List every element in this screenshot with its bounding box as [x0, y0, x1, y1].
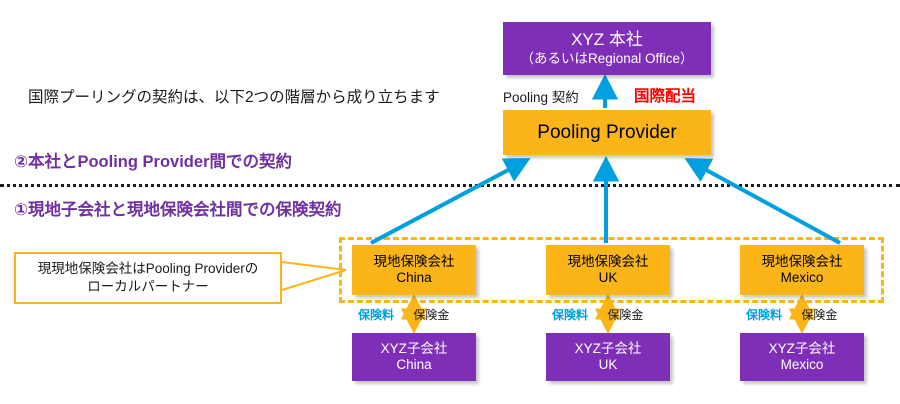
label-premium-uk: 保険料 [552, 308, 588, 322]
box-pooling-provider[interactable]: Pooling Provider [503, 110, 711, 155]
box-xyz-subsidiary-uk[interactable]: XYZ子会社 UK [546, 333, 670, 381]
flow-labels-china: 保険料 保険金 [358, 306, 449, 323]
label-benefit-mexico: 保険金 [801, 308, 837, 322]
local-insurer-uk-line1: 現地保険会社 [568, 254, 649, 270]
pooling-provider-line1: Pooling Provider [537, 121, 676, 144]
hq-line1: XYZ 本社 [571, 30, 643, 51]
box-local-insurer-uk[interactable]: 現地保険会社 UK [546, 245, 670, 295]
subsidiary-uk-line2: UK [599, 357, 618, 373]
box-local-insurer-mexico[interactable]: 現地保険会社 Mexico [740, 245, 864, 295]
callout-line2: ローカルパートナー [87, 278, 209, 296]
box-xyz-subsidiary-china[interactable]: XYZ子会社 China [352, 333, 476, 381]
local-insurer-mexico-line1: 現地保険会社 [762, 254, 843, 270]
local-insurer-mexico-line2: Mexico [781, 270, 824, 286]
hq-line2: （あるいはRegional Office） [520, 51, 693, 67]
label-international-dividend: 国際配当 [634, 84, 696, 106]
subsidiary-china-line1: XYZ子会社 [381, 341, 448, 357]
callout-local-partner: 現現地保険会社はPooling Providerの ローカルパートナー [14, 252, 282, 304]
flow-labels-uk: 保険料 保険金 [552, 306, 643, 323]
arrow-local-china-to-pooling [371, 160, 527, 243]
label-premium-china: 保険料 [358, 308, 394, 322]
diagram-canvas: 国際プーリングの契約は、以下2つの階層から成り立ちます ②本社とPooling … [0, 0, 900, 404]
subsidiary-mexico-line2: Mexico [781, 357, 824, 373]
box-local-insurer-china[interactable]: 現地保険会社 China [352, 245, 476, 295]
box-xyz-subsidiary-mexico[interactable]: XYZ子会社 Mexico [740, 333, 864, 381]
label-premium-mexico: 保険料 [746, 308, 782, 322]
label-benefit-china: 保険金 [413, 308, 449, 322]
local-insurer-uk-line2: UK [599, 270, 618, 286]
flow-labels-mexico: 保険料 保険金 [746, 306, 837, 323]
local-insurer-china-line2: China [396, 270, 431, 286]
callout-line1: 現現地保険会社はPooling Providerの [38, 260, 259, 278]
arrow-local-mexico-to-pooling [688, 160, 840, 243]
subsidiary-uk-line1: XYZ子会社 [575, 341, 642, 357]
label-pooling-contract: Pooling 契約 [503, 86, 579, 106]
local-insurer-china-line1: 現地保険会社 [374, 254, 455, 270]
callout-tail [282, 262, 346, 290]
subsidiary-mexico-line1: XYZ子会社 [769, 341, 836, 357]
subsidiary-china-line2: China [396, 357, 431, 373]
box-xyz-headquarters[interactable]: XYZ 本社 （あるいはRegional Office） [503, 22, 711, 75]
label-benefit-uk: 保険金 [607, 308, 643, 322]
